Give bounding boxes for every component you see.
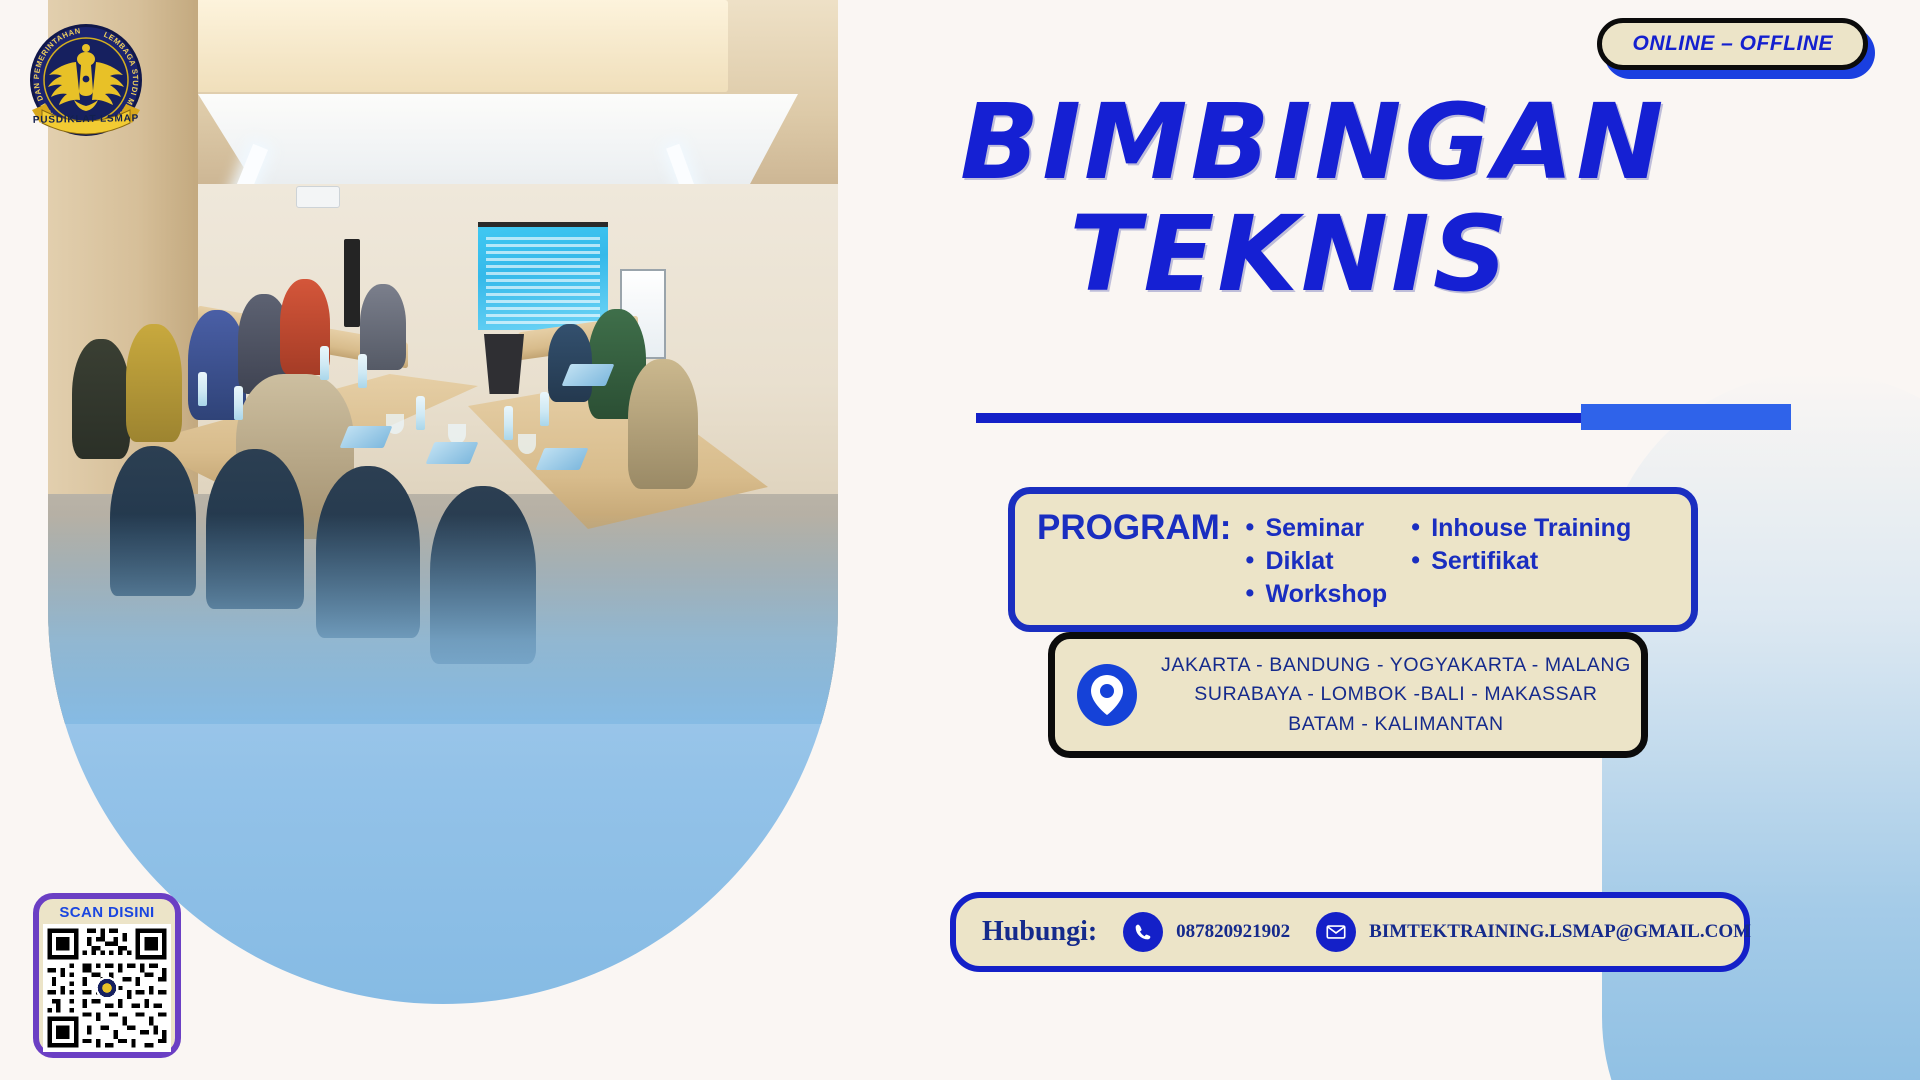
qr-title: SCAN DISINI: [59, 904, 154, 922]
photo-air-conditioner: [296, 186, 340, 208]
photo-water-bottle: [198, 372, 207, 406]
badge-label: ONLINE – OFFLINE: [1597, 18, 1868, 70]
photo-person: [548, 324, 592, 402]
divider: [976, 404, 1796, 430]
photo-ceiling-cove: [168, 0, 728, 92]
online-offline-badge[interactable]: ONLINE – OFFLINE: [1597, 18, 1868, 70]
envelope-icon: [1316, 912, 1356, 952]
photo-glass: [518, 434, 536, 454]
title-line-1: BIMBINGAN: [960, 86, 1620, 198]
email-contact[interactable]: BIMTEKTRAINING.LSMAP@GMAIL.COM: [1316, 912, 1751, 952]
photo-person: [72, 339, 130, 459]
photo-arch-panel: [48, 0, 838, 1004]
email-address: BIMTEKTRAINING.LSMAP@GMAIL.COM: [1369, 921, 1751, 943]
contact-label: Hubungi:: [982, 916, 1097, 948]
svg-text:PUSDIKLAT LSMAP: PUSDIKLAT LSMAP: [33, 113, 139, 126]
pusdiklat-lsmap-logo: LEMBAGA STUDI MANAJEMEN AKUNTANSI DAN PE…: [24, 18, 148, 142]
photo-water-bottle: [320, 346, 329, 380]
program-column-1: Seminar Diklat Workshop: [1245, 512, 1387, 611]
photo-water-bottle: [358, 354, 367, 388]
photo-person: [126, 324, 182, 442]
photo-chair: [316, 466, 420, 638]
program-item: Seminar: [1245, 512, 1387, 545]
photo-folder: [536, 448, 589, 470]
phone-contact[interactable]: 087820921902: [1123, 912, 1290, 952]
location-line: JAKARTA - BANDUNG - YOGYAKARTA - MALANG: [1161, 651, 1631, 680]
photo-projector-stand: [484, 334, 524, 394]
location-box: JAKARTA - BANDUNG - YOGYAKARTA - MALANG …: [1048, 632, 1648, 758]
photo-folder: [426, 442, 479, 464]
photo-folder: [562, 364, 615, 386]
photo-folder: [340, 426, 393, 448]
divider-bar: [976, 413, 1591, 423]
program-columns: Seminar Diklat Workshop Inhouse Training…: [1245, 506, 1631, 611]
photo-person: [628, 359, 698, 489]
location-line: BATAM - KALIMANTAN: [1161, 710, 1631, 739]
photo-screen-content: [486, 237, 600, 320]
phone-number: 087820921902: [1176, 921, 1290, 943]
program-item: Workshop: [1245, 578, 1387, 611]
poster-root: LEMBAGA STUDI MANAJEMEN AKUNTANSI DAN PE…: [0, 0, 1920, 1080]
page-title: BIMBINGAN TEKNIS: [960, 86, 1620, 311]
divider-block: [1581, 404, 1791, 430]
photo-water-bottle: [504, 406, 513, 440]
photo-chair: [110, 446, 196, 596]
program-item: Sertifikat: [1411, 545, 1631, 578]
photo-glass: [448, 424, 466, 444]
photo-chair: [430, 486, 536, 664]
qr-code-icon: [43, 924, 171, 1052]
photo-water-bottle: [416, 396, 425, 430]
program-label: PROGRAM:: [1037, 506, 1231, 547]
photo-water-bottle: [540, 392, 549, 426]
location-line: SURABAYA - LOMBOK -BALI - MAKASSAR: [1161, 680, 1631, 709]
photo-projector-screen: [478, 222, 608, 330]
photo-floor: [48, 494, 838, 724]
contact-bar: Hubungi: 087820921902 BIMTEKTRAINING.LSM…: [950, 892, 1750, 972]
program-box: PROGRAM: Seminar Diklat Workshop Inhouse…: [1008, 487, 1698, 632]
qr-scan-card[interactable]: SCAN DISINI: [33, 893, 181, 1058]
photo-water-bottle: [234, 386, 243, 420]
map-pin-icon: [1075, 663, 1139, 727]
location-lines: JAKARTA - BANDUNG - YOGYAKARTA - MALANG …: [1161, 651, 1631, 739]
photo-chair: [206, 449, 304, 609]
training-room-photo: [48, 0, 838, 724]
program-item: Diklat: [1245, 545, 1387, 578]
content-column: BIMBINGAN TEKNIS PROGRAM: Seminar Diklat…: [960, 0, 1920, 1080]
photo-speaker: [344, 239, 360, 327]
title-line-2: TEKNIS: [960, 198, 1620, 310]
program-item: Inhouse Training: [1411, 512, 1631, 545]
program-column-2: Inhouse Training Sertifikat: [1411, 512, 1631, 611]
phone-icon: [1123, 912, 1163, 952]
